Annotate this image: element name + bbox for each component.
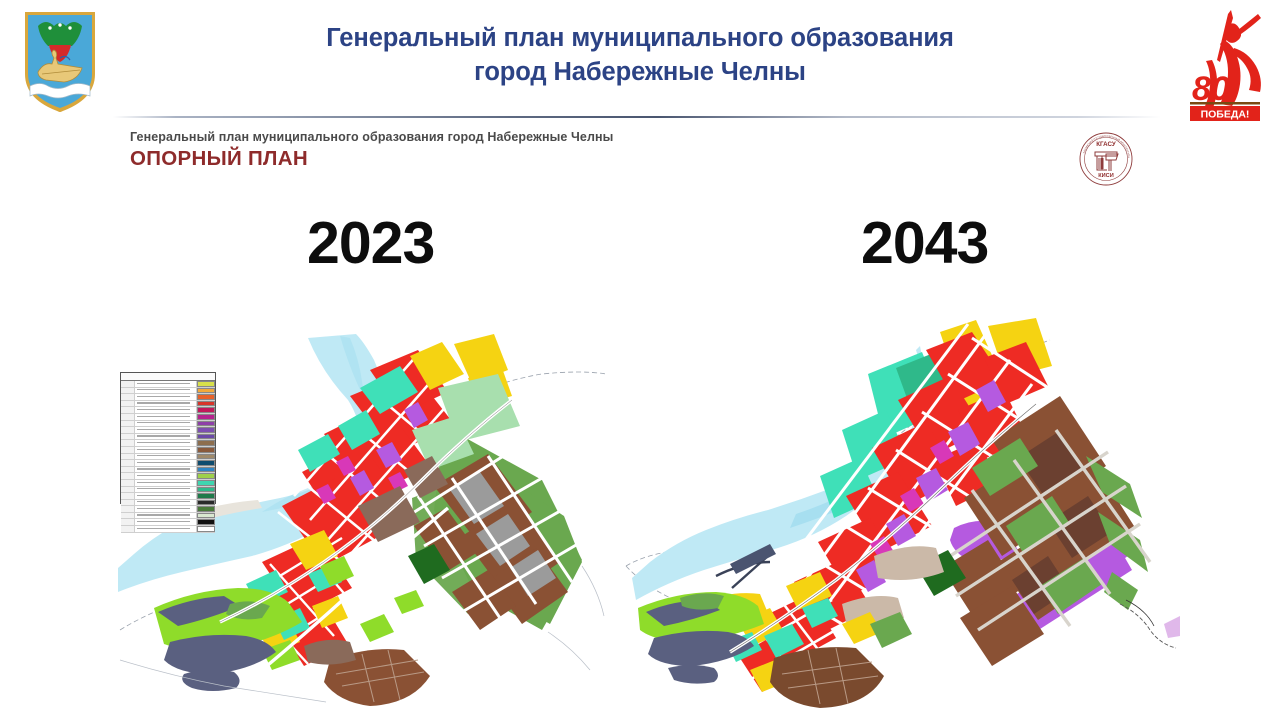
legend-row [121,493,215,500]
legend-row-description [135,427,197,433]
legend-row [121,480,215,487]
legend-color-swatch [197,480,215,486]
legend-row [121,434,215,441]
legend-color-swatch [197,460,215,466]
legend-row-description [135,447,197,453]
kgasu-emblem-icon: КГАСУ КИСИ КАЗАНСКИЙ ГОСУДАРСТВЕННЫЙ АРХ… [1073,130,1139,188]
map-image-2023[interactable]: М 1:25000 [112,330,610,715]
map-legend-panel[interactable] [120,372,216,504]
legend-color-swatch [197,421,215,427]
legend-row-description [135,487,197,493]
map-image-2043[interactable] [620,318,1180,710]
legend-color-swatch [197,473,215,479]
legend-color-swatch [197,394,215,400]
page-title: Генеральный план муниципального образова… [170,22,1110,90]
legend-row-description [135,519,197,525]
page-title-line-1: Генеральный план муниципального образова… [170,22,1110,56]
legend-title-bar [121,373,215,381]
legend-color-swatch [197,440,215,446]
legend-row [121,487,215,494]
legend-row-id [121,460,135,466]
legend-row-id [121,513,135,519]
legend-color-swatch [197,493,215,499]
slide-root: 80 ПОБЕДА! Генеральный план муниципально… [0,0,1280,720]
legend-row [121,467,215,474]
legend-row [121,519,215,526]
legend-row-id [121,440,135,446]
legend-row-id [121,480,135,486]
legend-row [121,460,215,467]
legend-row [121,394,215,401]
legend-color-swatch [197,454,215,460]
victory-80-emblem-icon: 80 ПОБЕДА! [1184,2,1268,124]
page-title-line-2: город Набережные Челны [170,56,1110,90]
legend-color-swatch [197,526,215,532]
legend-row [121,526,215,533]
legend-row [121,381,215,388]
legend-row-id [121,401,135,407]
legend-row [121,427,215,434]
legend-row-description [135,421,197,427]
legend-row-id [121,421,135,427]
legend-row [121,407,215,414]
legend-row [121,401,215,408]
legend-row-id [121,519,135,525]
legend-color-swatch [197,513,215,519]
legend-row-description [135,460,197,466]
legend-row-description [135,414,197,420]
legend-row-id [121,467,135,473]
legend-row-id [121,414,135,420]
legend-color-swatch [197,467,215,473]
legend-row [121,414,215,421]
legend-color-swatch [197,401,215,407]
legend-row-id [121,407,135,413]
legend-color-swatch [197,388,215,394]
legend-row [121,388,215,395]
year-label-right: 2043 [861,214,988,273]
legend-color-swatch [197,381,215,387]
legend-row-id [121,493,135,499]
sheet-subtitle: Генеральный план муниципального образова… [130,130,613,144]
svg-text:ПОБЕДА!: ПОБЕДА! [1201,109,1250,121]
legend-row-description [135,513,197,519]
legend-color-swatch [197,427,215,433]
legend-row [121,513,215,520]
legend-color-swatch [197,519,215,525]
legend-color-swatch [197,414,215,420]
sheet-main-caption: ОПОРНЫЙ ПЛАН [130,147,613,171]
legend-row [121,500,215,507]
legend-color-swatch [197,447,215,453]
legend-row-id [121,506,135,512]
legend-row-description [135,493,197,499]
legend-color-swatch [197,500,215,506]
header-divider [113,116,1161,118]
year-label-left: 2023 [307,214,434,273]
legend-row-description [135,454,197,460]
legend-row-description [135,473,197,479]
legend-color-swatch [197,506,215,512]
legend-row-id [121,447,135,453]
legend-row-id [121,454,135,460]
legend-row-id [121,388,135,394]
svg-text:КГАСУ: КГАСУ [1096,141,1116,148]
map-svg-2043 [620,318,1180,710]
legend-row-description [135,526,197,532]
legend-row-description [135,388,197,394]
legend-row-id [121,394,135,400]
legend-row [121,454,215,461]
legend-row-id [121,473,135,479]
legend-row-id [121,500,135,506]
legend-row [121,440,215,447]
coat-of-arms-icon [20,8,100,116]
legend-row-description [135,407,197,413]
legend-row-description [135,506,197,512]
legend-row-id [121,487,135,493]
legend-row-description [135,480,197,486]
legend-row-description [135,401,197,407]
legend-row-description [135,440,197,446]
legend-color-swatch [197,434,215,440]
legend-row-description [135,394,197,400]
legend-color-swatch [197,407,215,413]
legend-row-description [135,500,197,506]
legend-row-id [121,526,135,532]
legend-row [121,421,215,428]
svg-text:КИСИ: КИСИ [1098,173,1114,179]
sheet-caption-block: Генеральный план муниципального образова… [130,130,613,171]
legend-rows [121,381,215,533]
legend-row-description [135,434,197,440]
legend-row [121,506,215,513]
legend-row-description [135,381,197,387]
legend-row [121,473,215,480]
legend-row [121,447,215,454]
legend-row-id [121,427,135,433]
legend-row-id [121,434,135,440]
legend-color-swatch [197,487,215,493]
legend-row-id [121,381,135,387]
legend-row-description [135,467,197,473]
